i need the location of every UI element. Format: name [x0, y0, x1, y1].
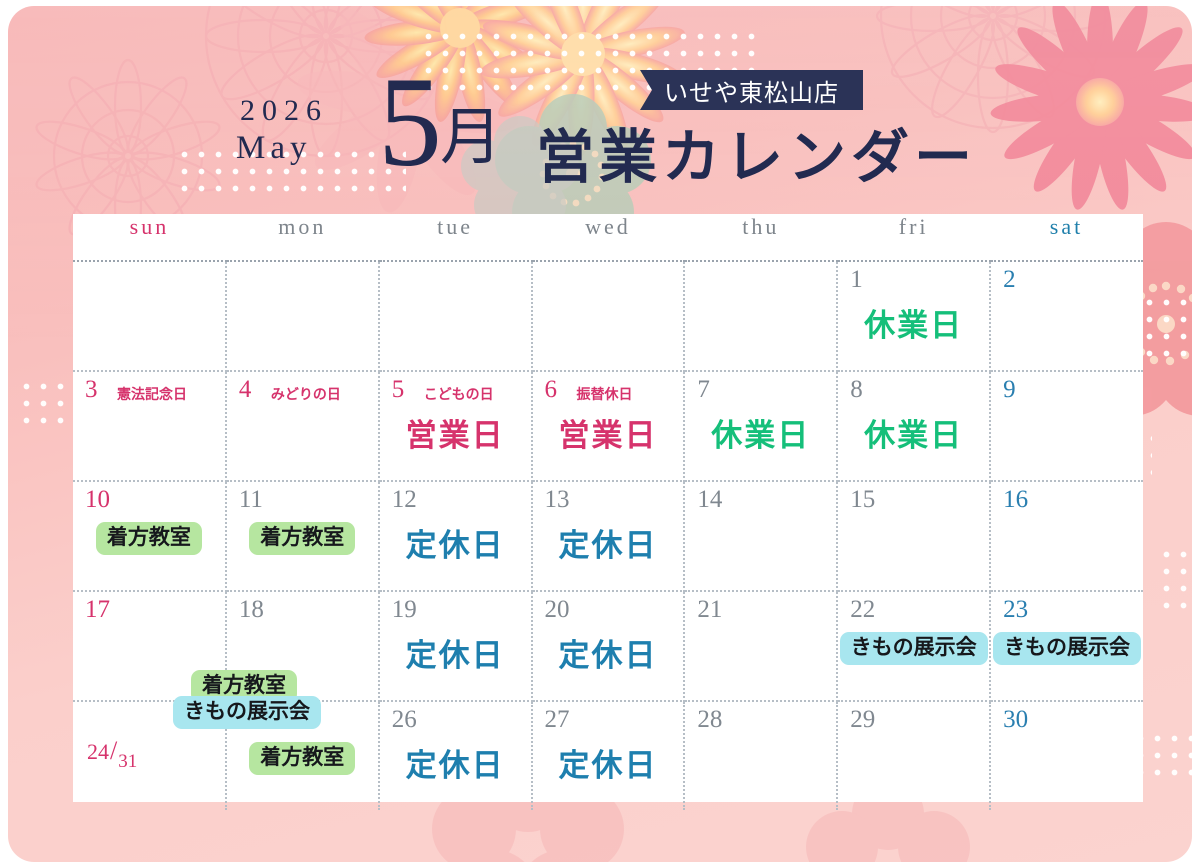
- day-number: 11: [239, 486, 263, 514]
- calendar-day-cell-5[interactable]: 5こどもの日営業日: [379, 371, 532, 481]
- status-label-regular: 定休日: [380, 630, 531, 675]
- weekday-header-wed: wed: [532, 214, 685, 261]
- weekday-header-fri: fri: [837, 214, 990, 261]
- holiday-name: こどもの日: [424, 384, 494, 404]
- calendar-day-cell-30[interactable]: 30: [990, 701, 1143, 810]
- calendar-day-cell-10[interactable]: 10着方教室: [73, 481, 226, 591]
- calendar-day-cell-2[interactable]: 2: [990, 261, 1143, 371]
- day-number: 29: [850, 706, 875, 734]
- calendar-day-cell-22[interactable]: 22きもの展示会: [837, 591, 990, 701]
- calendar-day-cell-21[interactable]: 21: [684, 591, 837, 701]
- weekday-header-mon: mon: [226, 214, 379, 261]
- day-number: 28: [697, 706, 722, 734]
- weekday-header-thu: thu: [684, 214, 837, 261]
- holiday-name: みどりの日: [271, 384, 341, 404]
- day-number: 30: [1003, 706, 1028, 734]
- day-number: 27: [545, 706, 570, 734]
- day-number: 13: [545, 486, 570, 514]
- calendar-day-cell-4[interactable]: 4みどりの日: [226, 371, 379, 481]
- status-label-regular: 定休日: [533, 740, 684, 785]
- day-number: 2: [1003, 266, 1016, 294]
- day-number: 19: [392, 596, 417, 624]
- day-number: 21: [697, 596, 722, 624]
- calendar-day-cell-29[interactable]: 29: [837, 701, 990, 810]
- event-badge[interactable]: 着方教室: [249, 742, 355, 775]
- month-english-label: May: [236, 130, 312, 167]
- calendar-day-cell-empty: [73, 261, 226, 371]
- day-number: 5: [392, 376, 405, 404]
- day-number: 14: [697, 486, 722, 514]
- day-number: 23: [1003, 596, 1028, 624]
- day-number: 8: [850, 376, 863, 404]
- weekday-header-row: sunmontuewedthufrisat: [73, 214, 1143, 261]
- day-number: 1: [850, 266, 863, 294]
- store-name-label: いせや東松山店: [664, 73, 839, 108]
- event-badge[interactable]: きもの展示会: [840, 632, 988, 665]
- status-label-open: 営業日: [380, 410, 531, 455]
- calendar-poster: 2026 May 5 月 営業カレンダー いせや東松山店 sunmontuewe…: [0, 0, 1200, 868]
- day-number: 12: [392, 486, 417, 514]
- calendar-day-cell-empty: [684, 261, 837, 371]
- calendar-week-row: 1休業日2: [73, 261, 1143, 371]
- event-badge[interactable]: きもの展示会: [993, 632, 1141, 665]
- calendar-day-cell-19[interactable]: 19定休日: [379, 591, 532, 701]
- calendar-week-row: 24/31着方教室きもの展示会25着方教室26定休日27定休日282930: [73, 701, 1143, 810]
- calendar-day-cell-12[interactable]: 12定休日: [379, 481, 532, 591]
- weekday-header-tue: tue: [379, 214, 532, 261]
- day-number: 17: [85, 596, 110, 624]
- calendar-day-cell-16[interactable]: 16: [990, 481, 1143, 591]
- calendar-day-cell-7[interactable]: 7休業日: [684, 371, 837, 481]
- calendar-day-cell-empty: [226, 261, 379, 371]
- status-label-closed: 休業日: [685, 410, 836, 455]
- day-number: 10: [85, 486, 110, 514]
- calendar-day-cell-23[interactable]: 23きもの展示会: [990, 591, 1143, 701]
- day-number: 24: [87, 739, 109, 764]
- calendar-day-cell-26[interactable]: 26定休日: [379, 701, 532, 810]
- year-label: 2026: [240, 94, 328, 128]
- calendar-day-cell-13[interactable]: 13定休日: [532, 481, 685, 591]
- calendar-day-cell-20[interactable]: 20定休日: [532, 591, 685, 701]
- holiday-name: 憲法記念日: [117, 384, 187, 404]
- calendar-day-cell-8[interactable]: 8休業日: [837, 371, 990, 481]
- calendar-day-cell-empty: [532, 261, 685, 371]
- day-number: 7: [697, 376, 710, 404]
- status-label-closed: 休業日: [838, 410, 989, 455]
- calendar-day-cell-15[interactable]: 15: [837, 481, 990, 591]
- weekday-header-sat: sat: [990, 214, 1143, 261]
- day-number-secondary: 31: [118, 751, 137, 772]
- calendar-day-cell-6[interactable]: 6振替休日営業日: [532, 371, 685, 481]
- holiday-name: 振替休日: [577, 384, 633, 404]
- event-badge-kimono-exhibition[interactable]: きもの展示会: [173, 696, 321, 729]
- weekday-header-sun: sun: [73, 214, 226, 261]
- calendar-day-cell-1[interactable]: 1休業日: [837, 261, 990, 371]
- day-number: 6: [545, 376, 558, 404]
- page-title: 営業カレンダー: [536, 110, 977, 194]
- day-number: 3: [85, 376, 98, 404]
- status-label-closed: 休業日: [838, 300, 989, 345]
- calendar-grid: sunmontuewedthufrisat 1休業日23憲法記念日4みどりの日5…: [73, 214, 1143, 810]
- day-number: 20: [545, 596, 570, 624]
- day-number: 16: [1003, 486, 1028, 514]
- day-number-separator: /: [109, 736, 118, 765]
- calendar-day-cell-11[interactable]: 11着方教室: [226, 481, 379, 591]
- month-number-label: 5: [378, 58, 442, 186]
- calendar-day-cell-14[interactable]: 14: [684, 481, 837, 591]
- day-number: 9: [1003, 376, 1016, 404]
- day-number: 22: [850, 596, 875, 624]
- dot-pattern-right-lower: [1158, 546, 1192, 616]
- calendar-day-cell-3[interactable]: 3憲法記念日: [73, 371, 226, 481]
- day-number: 18: [239, 596, 264, 624]
- day-number-split: 24/31: [87, 736, 137, 766]
- calendar-panel: sunmontuewedthufrisat 1休業日23憲法記念日4みどりの日5…: [73, 214, 1143, 802]
- calendar-week-row: 10着方教室11着方教室12定休日13定休日141516: [73, 481, 1143, 591]
- calendar-day-cell-27[interactable]: 27定休日: [532, 701, 685, 810]
- status-label-open: 営業日: [533, 410, 684, 455]
- calendar-day-cell-9[interactable]: 9: [990, 371, 1143, 481]
- status-label-regular: 定休日: [533, 630, 684, 675]
- status-label-regular: 定休日: [380, 520, 531, 565]
- event-badge[interactable]: 着方教室: [249, 522, 355, 555]
- calendar-day-cell-empty: [379, 261, 532, 371]
- calendar-day-cell-28[interactable]: 28: [684, 701, 837, 810]
- calendar-week-row: 3憲法記念日4みどりの日5こどもの日営業日6振替休日営業日7休業日8休業日9: [73, 371, 1143, 481]
- poster-background: 2026 May 5 月 営業カレンダー いせや東松山店 sunmontuewe…: [8, 6, 1192, 862]
- day-number: 4: [239, 376, 252, 404]
- day-number: 15: [850, 486, 875, 514]
- event-badge[interactable]: 着方教室: [96, 522, 202, 555]
- status-label-regular: 定休日: [533, 520, 684, 565]
- month-kanji-label: 月: [440, 106, 502, 168]
- day-number: 26: [392, 706, 417, 734]
- calendar-day-cell-24[interactable]: 24/31着方教室きもの展示会: [73, 701, 226, 810]
- status-label-regular: 定休日: [380, 740, 531, 785]
- store-name-ribbon: いせや東松山店: [640, 70, 863, 110]
